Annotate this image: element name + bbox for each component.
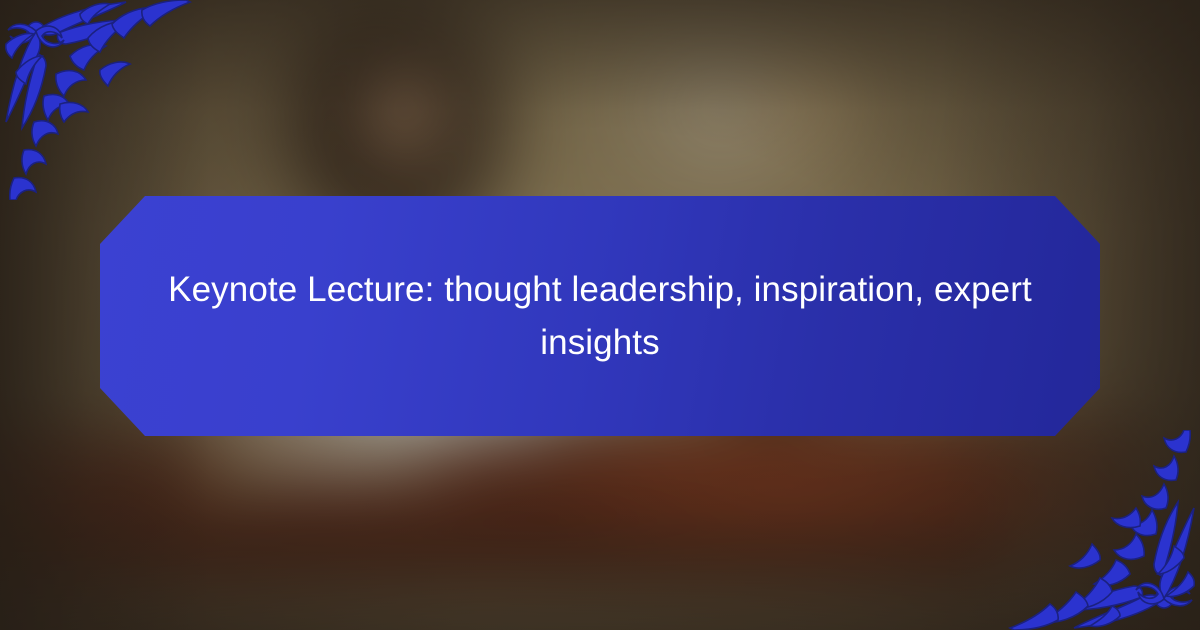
floral-damask-corner-ornament-icon <box>0 0 200 200</box>
headline-text: Keynote Lecture: thought leadership, ins… <box>120 263 1080 369</box>
floral-damask-corner-ornament-icon <box>1000 430 1200 630</box>
social-card: Keynote Lecture: thought leadership, ins… <box>0 0 1200 630</box>
headline-banner: Keynote Lecture: thought leadership, ins… <box>100 196 1100 436</box>
